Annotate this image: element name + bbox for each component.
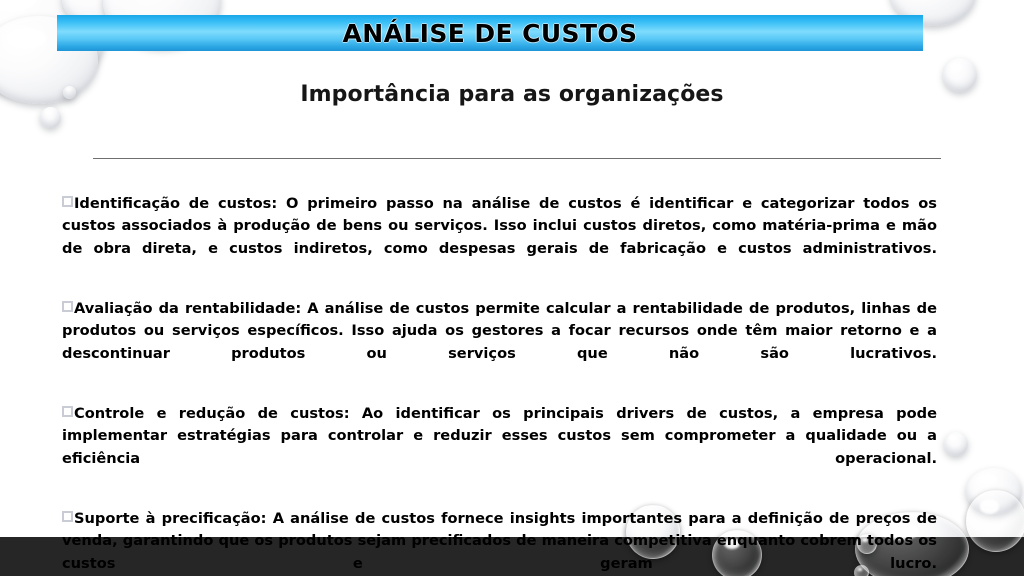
divider-rule [93,158,941,159]
bullet-list: Identificação de custos: O primeiro pass… [62,178,937,576]
list-item-lead: Identificação de custos: [74,195,277,212]
water-drop-icon [944,432,968,456]
title-banner: ANÁLISE DE CUSTOS [57,15,923,51]
slide: ANÁLISE DE CUSTOS Importância para as or… [0,0,1024,576]
water-drop-icon [40,107,61,128]
hollow-square-bullet-icon [62,406,73,417]
list-item-lead: Avaliação da rentabilidade: [74,300,301,317]
list-item: Suporte à precificação: A análise de cus… [62,508,937,576]
page-title: ANÁLISE DE CUSTOS [343,19,638,48]
list-item-lead: Controle e redução de custos: [74,405,350,422]
page-subtitle: Importância para as organizações [0,82,1024,107]
list-item: Avaliação da rentabilidade: A análise de… [62,298,937,388]
hollow-square-bullet-icon [62,196,73,207]
hollow-square-bullet-icon [62,511,73,522]
list-item: Controle e redução de custos: Ao identif… [62,403,937,493]
list-item: Identificação de custos: O primeiro pass… [62,193,937,283]
list-item-lead: Suporte à precificação: [74,510,267,527]
hollow-square-bullet-icon [62,301,73,312]
water-drop-icon [966,468,1022,514]
